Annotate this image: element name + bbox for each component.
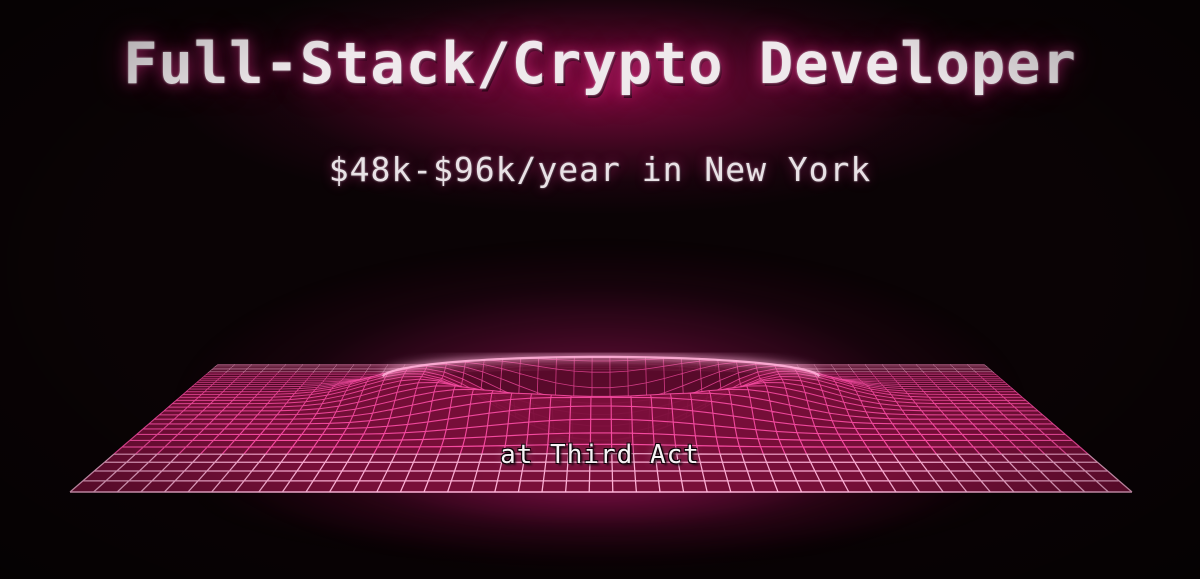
salary-location-subtitle: $48k-$96k/year in New York — [0, 150, 1200, 189]
surface-fills — [70, 356, 1132, 492]
employer-label: at Third Act — [0, 440, 1200, 470]
page-title: Full-Stack/Crypto Developer — [0, 31, 1200, 97]
job-banner: Full-Stack/Crypto Developer $48k-$96k/ye… — [0, 0, 1200, 579]
